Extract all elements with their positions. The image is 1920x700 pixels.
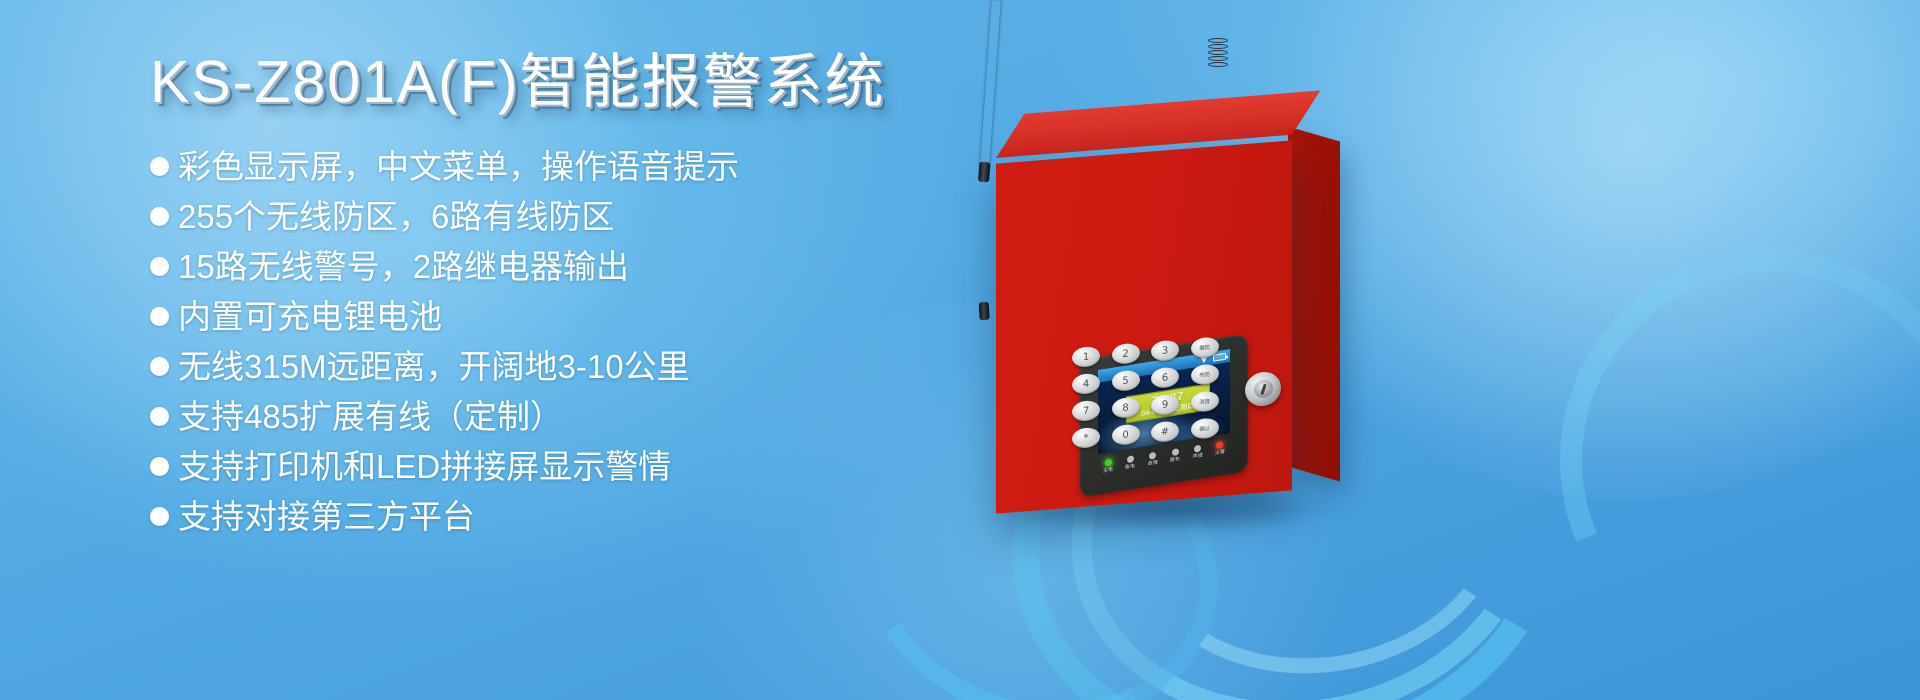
keypad-key[interactable]: * xyxy=(1072,427,1100,449)
feature-item: 15路无线警号，2路继电器输出 xyxy=(150,242,970,292)
feature-label: 255个无线防区，6路有线防区 xyxy=(178,192,614,242)
feature-item: 彩色显示屏，中文菜单，操作语音提示 xyxy=(150,142,970,192)
keypad-key[interactable]: 7 xyxy=(1072,400,1100,422)
decorative-arc xyxy=(1497,187,1920,700)
bullet-dot-icon xyxy=(150,257,169,276)
alarm-control-panel: 22 27 04-01-01 星期四 主电 备电 xyxy=(980,0,1460,700)
keyhole-icon xyxy=(1260,383,1266,394)
bullet-dot-icon xyxy=(150,457,169,476)
antenna-right xyxy=(973,168,988,308)
led-lamp-icon xyxy=(1127,455,1134,463)
antenna-left xyxy=(980,0,1001,168)
feature-item: 无线315M远距离，开阔地3-10公里 xyxy=(150,342,970,392)
feature-label: 彩色显示屏，中文菜单，操作语音提示 xyxy=(178,142,739,192)
keypad[interactable]: 1 2 3 撤防 4 5 6 布防 7 8 9 消音 * 0 # 确认 xyxy=(1072,336,1224,449)
keypad-key[interactable]: 确认 xyxy=(1191,417,1219,439)
led-label: 火警 xyxy=(1206,448,1233,459)
led-lamp-icon xyxy=(1149,452,1156,460)
led-lamp-icon xyxy=(1194,445,1201,453)
keypad-key[interactable]: 1 xyxy=(1072,346,1100,368)
bullet-dot-icon xyxy=(150,157,169,176)
cabinet-side-panel xyxy=(1288,127,1340,482)
feature-label: 支持485扩展有线（定制） xyxy=(178,392,563,442)
indicator-led: 火警 xyxy=(1210,440,1230,457)
feature-label: 支持对接第三方平台 xyxy=(178,492,475,542)
product-title: KS-Z801A(F)智能报警系统 xyxy=(150,52,970,114)
keypad-key[interactable]: 5 xyxy=(1112,370,1140,392)
indicator-led: 故障 xyxy=(1143,451,1163,468)
keypad-key[interactable]: 消音 xyxy=(1191,390,1219,412)
keypad-key[interactable]: 2 xyxy=(1112,343,1140,365)
keypad-key[interactable]: 撤防 xyxy=(1191,336,1219,358)
feature-item: 支持对接第三方平台 xyxy=(150,492,970,542)
keypad-key[interactable]: 8 xyxy=(1112,397,1140,419)
indicator-led: 声提 xyxy=(1188,444,1208,461)
feature-item: 支持485扩展有线（定制） xyxy=(150,392,970,442)
keypad-key[interactable]: 3 xyxy=(1151,340,1179,362)
bullet-dot-icon xyxy=(150,207,169,226)
keypad-key[interactable]: 4 xyxy=(1072,373,1100,395)
led-lamp-icon xyxy=(1105,459,1112,467)
led-lamp-icon xyxy=(1216,441,1223,449)
feature-item: 内置可充电锂电池 xyxy=(150,292,970,342)
cabinet-front-panel: 22 27 04-01-01 星期四 主电 备电 xyxy=(996,140,1292,513)
feature-list: 彩色显示屏，中文菜单，操作语音提示 255个无线防区，6路有线防区 15路无线警… xyxy=(150,142,970,542)
feature-item: 支持打印机和LED拼接屏显示警情 xyxy=(150,442,970,492)
keypad-key[interactable]: 9 xyxy=(1151,394,1179,416)
keypad-key[interactable]: # xyxy=(1151,421,1179,443)
keypad-key[interactable]: 0 xyxy=(1112,424,1140,446)
bullet-dot-icon xyxy=(150,507,169,526)
bullet-dot-icon xyxy=(150,407,169,426)
indicator-led: 主电 xyxy=(1098,458,1118,475)
indicator-led: 撤布 xyxy=(1165,447,1185,464)
product-banner: KS-Z801A(F)智能报警系统 彩色显示屏，中文菜单，操作语音提示 255个… xyxy=(0,0,1920,700)
bullet-dot-icon xyxy=(150,307,169,326)
marketing-text-block: KS-Z801A(F)智能报警系统 彩色显示屏，中文菜单，操作语音提示 255个… xyxy=(150,52,970,542)
feature-label: 支持打印机和LED拼接屏显示警情 xyxy=(178,442,671,492)
bullet-dot-icon xyxy=(150,357,169,376)
feature-label: 无线315M远距离，开阔地3-10公里 xyxy=(178,342,690,392)
indicator-led: 备电 xyxy=(1120,454,1140,471)
antenna-coil-icon xyxy=(1208,38,1228,72)
feature-item: 255个无线防区，6路有线防区 xyxy=(150,192,970,242)
keypad-key[interactable]: 布防 xyxy=(1191,363,1219,385)
feature-label: 15路无线警号，2路继电器输出 xyxy=(178,242,629,292)
feature-label: 内置可充电锂电池 xyxy=(178,292,442,342)
led-lamp-icon xyxy=(1172,448,1179,456)
keypad-key[interactable]: 6 xyxy=(1151,367,1179,389)
